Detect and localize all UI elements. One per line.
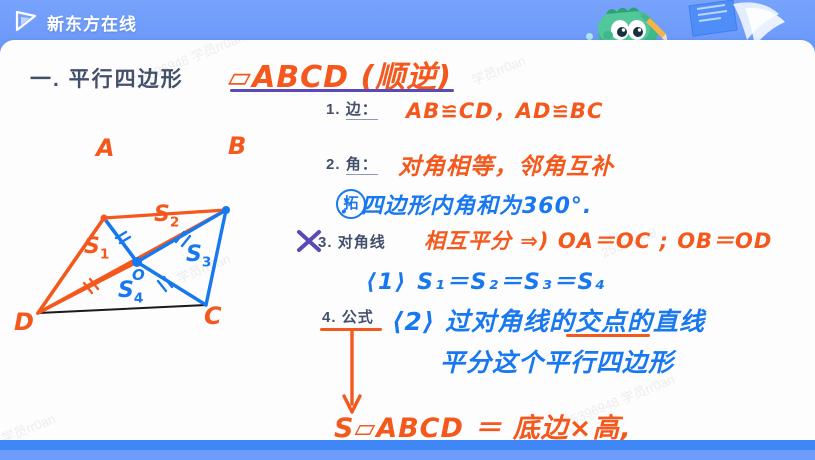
item-2-text: 角： [346, 156, 378, 175]
note-2-line-2: 平分这个平行四边形 [440, 343, 674, 379]
item-3-number: 3. [318, 234, 333, 251]
screen: 新东方在线 [0, 0, 815, 460]
footer-bar [0, 440, 815, 450]
item-3-answer: 相互平分 ⇒) OA＝OC ; OB＝OD [424, 225, 772, 255]
brand-logo[interactable]: 新东方在线 [14, 9, 137, 35]
region-label-s3: S3 [186, 242, 211, 270]
item-2-number: 2. [326, 156, 341, 173]
vertex-label-b: B [228, 132, 246, 160]
item-1-label: 1. 边： [326, 98, 378, 119]
note-2-line-1: ⟨2⟩ 过对角线的交点的直线 [392, 302, 705, 338]
vertex-label-c: C [204, 302, 222, 330]
note-1: ⟨1⟩ S₁＝S₂＝S₃＝S₄ [366, 264, 607, 296]
item-2-label: 2. 角： [326, 153, 378, 174]
extend-text: ：四边形内角和为360°. [338, 188, 592, 220]
whiteboard: 25396948 学员rr0an 学员rr0an 25396948 学员rr0a… [0, 40, 815, 450]
item-4-text: 公式 [342, 309, 374, 326]
watermark: 学员rr0an [468, 50, 527, 89]
region-label-s2: S2 [154, 202, 179, 230]
item-1-text: 边： [346, 101, 378, 120]
region-label-s1: S1 [84, 234, 109, 262]
triangle-flag-logo-icon [14, 9, 40, 35]
region-label-s4: S4 [118, 278, 143, 306]
vertex-label-a: A [96, 134, 115, 162]
note-2-underline [566, 334, 650, 337]
item-4-number: 4. [322, 309, 337, 326]
item-3-label: 3. 对角线 [318, 231, 386, 252]
item-2-answer: 对角相等，邻角互补 [398, 147, 614, 181]
vertex-label-d: D [14, 308, 34, 336]
brand-name: 新东方在线 [47, 10, 137, 35]
section-title: 一. 平行四边形 [30, 63, 184, 93]
item-3-text: 对角线 [338, 234, 386, 251]
extension-note: 拓 ：四边形内角和为360°. [336, 188, 592, 220]
item-4-label: 4. 公式 [322, 306, 374, 327]
parallelogram-abcd-diagram: A B C D O S1 S2 S3 S4 [8, 150, 288, 330]
item-1-answer: AB≌CD，AD≌BC [406, 95, 603, 125]
item-4-underline [320, 328, 382, 331]
extend-badge: 拓 [336, 189, 366, 219]
item-1-number: 1. [326, 101, 341, 118]
title-underline [230, 89, 454, 92]
